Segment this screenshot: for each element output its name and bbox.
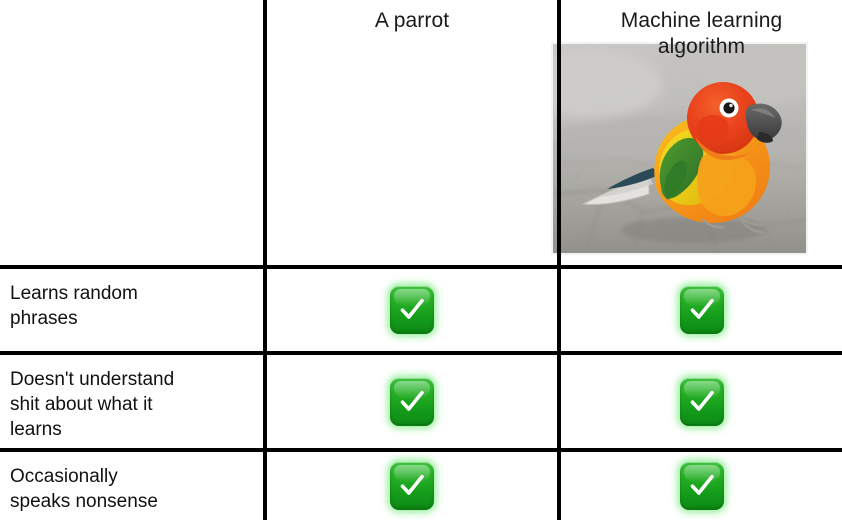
row1-label-line1: Learns random (10, 281, 263, 306)
check-icon (680, 378, 724, 426)
header-cell-ml: Machine learning algorithm (561, 0, 842, 265)
check-icon (680, 286, 724, 334)
check-icon (390, 462, 434, 510)
cell-ml-row3 (561, 452, 842, 520)
check-icon (390, 286, 434, 334)
column-title-ml-line1: Machine learning (561, 8, 842, 34)
row-label-doesnt-understand: Doesn't understand shit about what it le… (0, 355, 263, 448)
row-divider-3 (0, 448, 842, 452)
column-title-ml-line2: algorithm (561, 34, 842, 60)
row1-label-line2: phrases (10, 306, 263, 331)
row3-label-line2: speaks nonsense (10, 489, 263, 514)
column-title-parrot: A parrot (267, 0, 557, 34)
row2-label-line2: shit about what it (10, 392, 263, 417)
cell-ml-row1 (561, 269, 842, 351)
header-cell-blank (0, 0, 263, 265)
cell-parrot-row3 (267, 452, 557, 520)
row2-label-line1: Doesn't understand (10, 367, 263, 392)
row-divider-1 (0, 265, 842, 269)
row-divider-2 (0, 351, 842, 355)
header-blank-label (0, 0, 263, 8)
column-title-ml: Machine learning algorithm (561, 0, 842, 60)
row3-label-line1: Occasionally (10, 464, 263, 489)
row-label-occasionally-speaks-nonsense: Occasionally speaks nonsense (0, 452, 263, 520)
cell-parrot-row1 (267, 269, 557, 351)
check-icon (680, 462, 724, 510)
header-cell-parrot: A parrot (267, 0, 557, 265)
row-label-learns-random-phrases: Learns random phrases (0, 269, 263, 351)
column-divider-2 (557, 0, 561, 520)
cell-ml-row2 (561, 355, 842, 448)
check-icon (390, 378, 434, 426)
parrot-vs-ml-comparison-table: A parrot (0, 0, 842, 520)
cell-parrot-row2 (267, 355, 557, 448)
column-divider-1 (263, 0, 267, 520)
row2-label-line3: learns (10, 417, 263, 442)
